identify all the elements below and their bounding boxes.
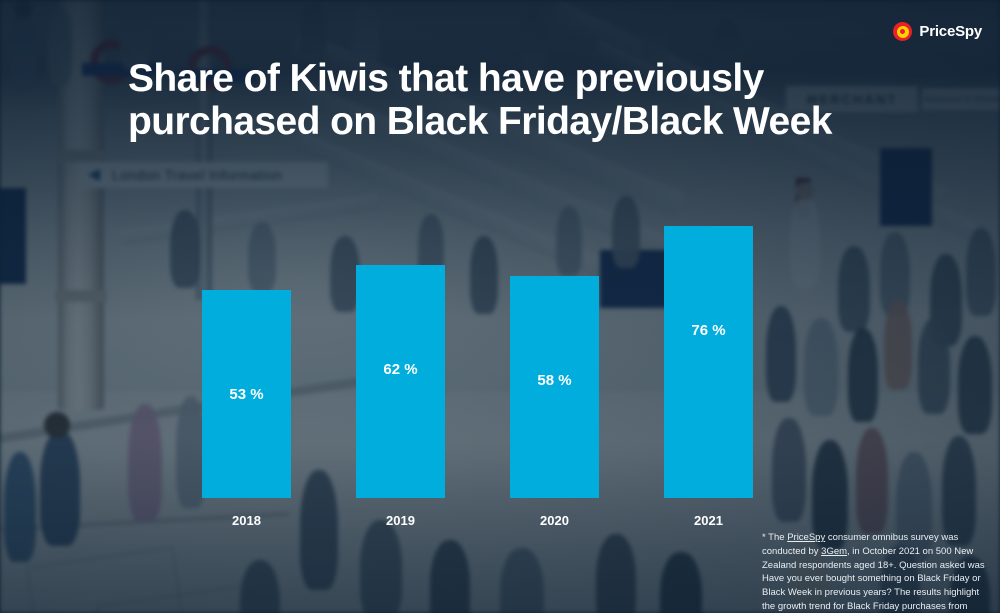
bar-chart: 53 %201862 %201958 %202076 %2021 — [0, 0, 1000, 613]
x-axis-label-2018: 2018 — [202, 513, 291, 528]
footnote-link-pricespy[interactable]: PriceSpy — [787, 532, 825, 543]
bar-value-label-2018: 53 % — [202, 386, 291, 403]
bar-value-label-2021: 76 % — [664, 322, 753, 339]
slide-canvas: London Travel Information MERCHANT Aleho… — [0, 0, 1000, 613]
footnote-link-3gem[interactable]: 3Gem — [821, 546, 847, 557]
bar-value-label-2020: 58 % — [510, 372, 599, 389]
bar-2021[interactable] — [664, 226, 753, 498]
bar-value-label-2019: 62 % — [356, 361, 445, 378]
bar-2019[interactable] — [356, 265, 445, 498]
x-axis-label-2020: 2020 — [510, 513, 599, 528]
footnote-prefix: * The — [762, 532, 787, 543]
footnote: * The PriceSpy consumer omnibus survey w… — [762, 531, 986, 613]
x-axis-label-2019: 2019 — [356, 513, 445, 528]
x-axis-label-2021: 2021 — [664, 513, 753, 528]
